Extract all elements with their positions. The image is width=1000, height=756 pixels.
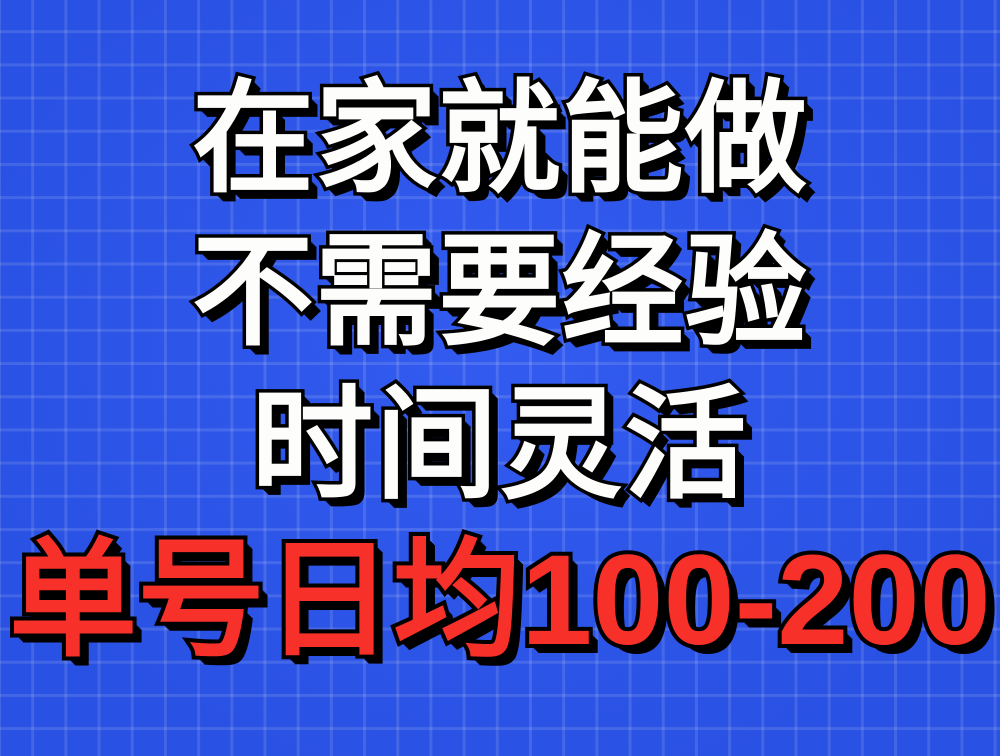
headline-line-2: 不需要经验 [0, 231, 1000, 353]
promo-poster: 在家就能做 不需要经验 时间灵活 单号日均100-200 [0, 0, 1000, 756]
headline-stack: 在家就能做 不需要经验 时间灵活 单号日均100-200 [0, 0, 1000, 756]
headline-line-1: 在家就能做 [0, 78, 1000, 200]
headline-line-3: 时间灵活 [0, 384, 1000, 506]
headline-line-4-accent: 单号日均100-200 [0, 537, 1000, 665]
